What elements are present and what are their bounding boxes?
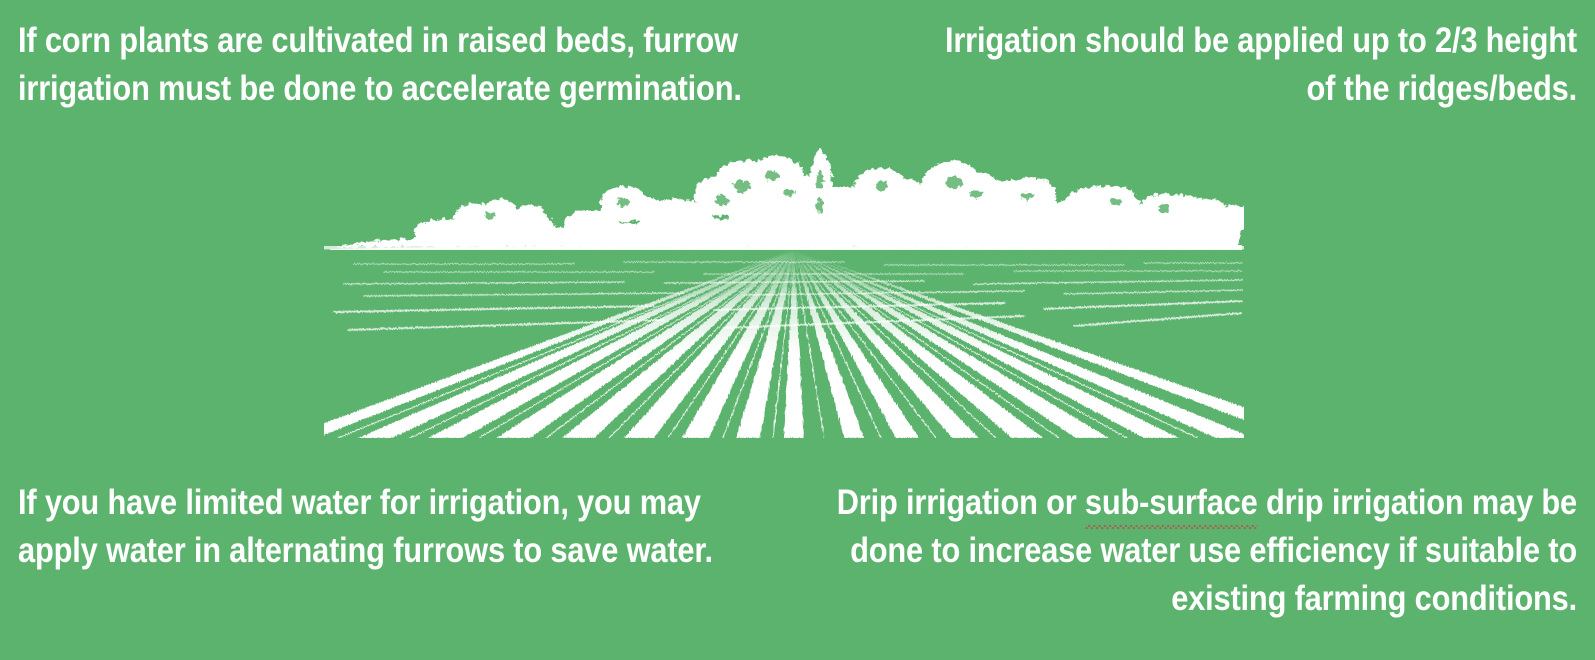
tip-top-left: If corn plants are cultivated in raised … [18, 17, 792, 113]
spellcheck-misspelled-word[interactable]: sub-surface [1085, 483, 1258, 522]
tip-top-right: Irrigation should be applied up to 2/3 h… [908, 17, 1577, 113]
tip-bottom-right-part1: Drip irrigation or [837, 483, 1085, 522]
furrowed-field-illustration [324, 146, 1244, 438]
tip-bottom-left: If you have limited water for irrigation… [18, 479, 740, 575]
tip-bottom-right: Drip irrigation or sub-surface drip irri… [785, 479, 1577, 623]
infographic-slide: If corn plants are cultivated in raised … [0, 0, 1595, 660]
